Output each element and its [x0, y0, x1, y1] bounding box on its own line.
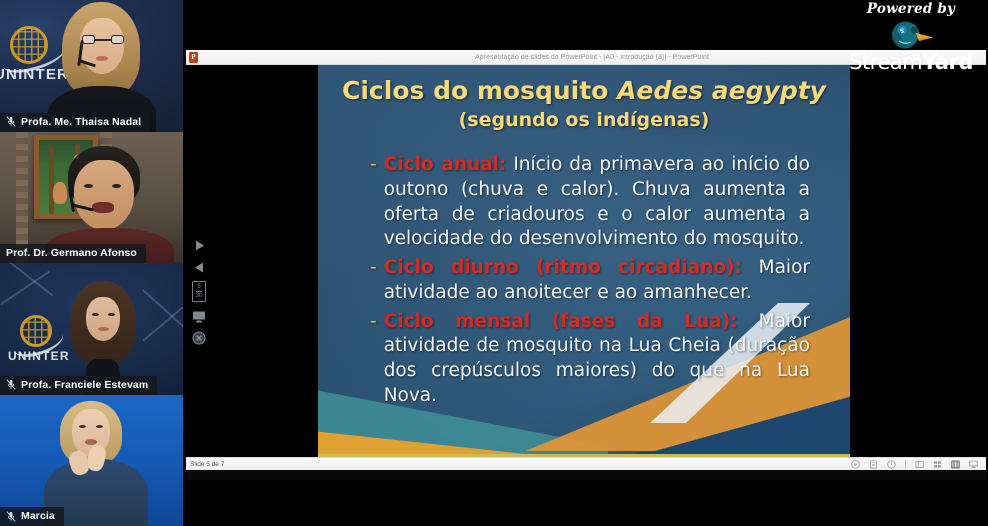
next-slide-arrow-icon[interactable]: [190, 237, 208, 253]
participant-name-badge: Prof. Dr. Germano Afonso: [0, 244, 146, 263]
participant-name-badge: Profa. Franciele Estevam: [0, 376, 157, 395]
slide-title-plain: Ciclos do mosquito: [342, 76, 617, 105]
close-icon[interactable]: [190, 330, 208, 346]
participant-name-badge: Marcia: [0, 507, 64, 526]
svg-text:S: S: [900, 27, 905, 35]
powered-by-label: Powered by: [842, 0, 980, 17]
slide-fraction-indicator[interactable]: 5 30: [192, 281, 207, 302]
streamyard-wordmark: StreamYard: [849, 50, 973, 74]
bullet-lead: Ciclo diurno (ritmo circadiano):: [384, 257, 742, 278]
blank-screen-icon[interactable]: [190, 308, 208, 324]
notes-icon[interactable]: [869, 460, 878, 469]
bullet-marker: -: [370, 310, 377, 409]
wordmark-part1: Stream: [849, 50, 922, 74]
wordmark-part2: Yard: [922, 50, 973, 74]
slide-title: Ciclos do mosquito Aedes aegypty: [318, 77, 850, 105]
bullet-lead: Ciclo mensal (fases da Lua):: [384, 311, 738, 332]
accessibility-icon[interactable]: [851, 460, 860, 469]
slide-subtitle: (segundo os indígenas): [318, 109, 850, 131]
streamyard-stage: UNINTER: [0, 0, 988, 526]
presentation-slide: Ciclos do mosquito Aedes aegypty (segund…: [318, 65, 850, 463]
slide-title-italic: Aedes aegypty: [617, 76, 826, 105]
slide-bullet: - Ciclo mensal (fases da Lua): Maior ati…: [370, 310, 810, 409]
uninter-wordmark: UNINTER: [0, 66, 69, 83]
mic-muted-icon: [6, 116, 16, 127]
powerpoint-status-bar: Slide 5 de 7: [186, 457, 986, 470]
presenter-controls: 5 30: [187, 237, 211, 346]
participant-tile-germano-afonso[interactable]: Prof. Dr. Germano Afonso: [0, 132, 183, 264]
slideshow-icon[interactable]: [969, 460, 978, 469]
participant-name: Profa. Me. Thaisa Nadal: [21, 116, 141, 128]
divider: [905, 460, 906, 469]
slideshow-canvas: 5 30: [186, 65, 986, 463]
participant-tile-marcia[interactable]: Marcia: [0, 395, 183, 526]
participant-list: UNINTER: [0, 0, 183, 526]
uninter-wordmark: UNINTER: [8, 349, 70, 363]
powerpoint-icon: P: [189, 52, 198, 63]
participant-name: Prof. Dr. Germano Afonso: [6, 247, 137, 259]
bullet-marker: -: [370, 256, 377, 306]
bullet-lead: Ciclo anual:: [384, 154, 507, 175]
participant-name: Profa. Franciele Estevam: [21, 379, 148, 391]
normal-view-icon[interactable]: [915, 460, 924, 469]
bullet-marker: -: [370, 153, 377, 252]
slide-counter: Slide 5 de 7: [190, 461, 224, 468]
powerpoint-window: P Apresentação de slides do PowerPoint -…: [186, 50, 986, 480]
slide-bullet: - Ciclo anual: Início da primavera ao in…: [370, 153, 810, 252]
status-bar-icons: [851, 460, 982, 469]
reading-view-icon[interactable]: [951, 460, 960, 469]
participant-tile-franciele-estevam[interactable]: UNINTER Profa. Franci: [0, 263, 183, 395]
slide-bullet-list: - Ciclo anual: Início da primavera ao in…: [370, 153, 810, 413]
slide-sorter-icon[interactable]: [933, 460, 942, 469]
help-icon[interactable]: [887, 460, 896, 469]
participant-tile-thaisa-nadal[interactable]: UNINTER: [0, 0, 183, 132]
mic-muted-icon: [6, 379, 16, 390]
mic-muted-icon: [6, 511, 16, 522]
previous-slide-arrow-icon[interactable]: [190, 259, 208, 275]
streamyard-branding: Powered by S StreamYard: [842, 0, 980, 80]
participant-name-badge: Profa. Me. Thaisa Nadal: [0, 113, 150, 132]
participant-name: Marcia: [21, 510, 55, 522]
slide-bullet: - Ciclo diurno (ritmo circadiano): Maior…: [370, 256, 810, 306]
